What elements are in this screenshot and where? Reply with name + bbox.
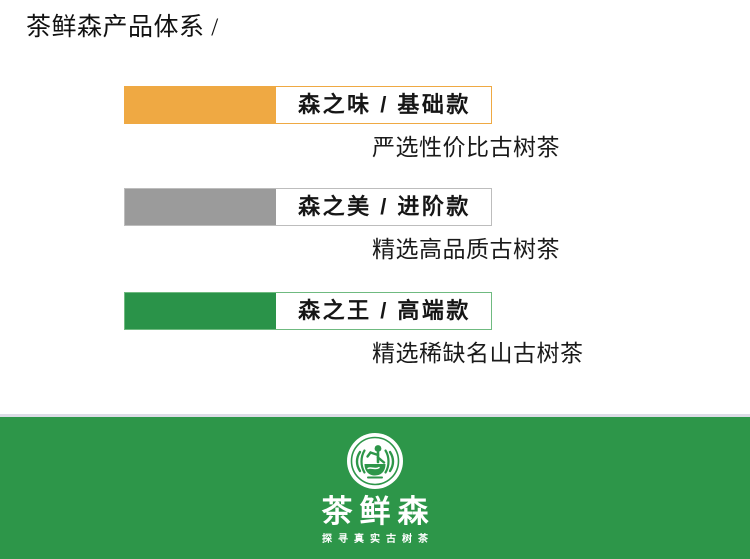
tier-swatch-green — [125, 293, 276, 329]
tier-bar: 森之味 / 基础款 — [124, 86, 492, 124]
tier-label-box: 森之王 / 高端款 — [276, 293, 491, 329]
tier-description: 精选稀缺名山古树茶 — [372, 338, 584, 368]
brand-footer-content: 茶鲜森 探寻真实古树茶 — [0, 417, 750, 559]
tier-swatch-gray — [125, 189, 276, 225]
product-tier-infographic: 茶鲜森产品体系 / 森之味 / 基础款 严选性价比古树茶 森之美 / 进阶款 精… — [0, 0, 750, 559]
tier-description: 严选性价比古树茶 — [372, 132, 560, 162]
brand-footer: 茶鲜森 探寻真实古树茶 — [0, 417, 750, 559]
tier-label: 森之美 / 进阶款 — [298, 196, 471, 218]
tier-label: 森之味 / 基础款 — [298, 94, 471, 116]
tier-bar: 森之王 / 高端款 — [124, 292, 492, 330]
tier-bar: 森之美 / 进阶款 — [124, 188, 492, 226]
brand-tagline: 探寻真实古树茶 — [316, 535, 434, 545]
tier-swatch-orange — [125, 87, 276, 123]
tier-label-box: 森之美 / 进阶款 — [276, 189, 491, 225]
tier-label: 森之王 / 高端款 — [298, 300, 471, 322]
page-title: 茶鲜森产品体系 / — [26, 12, 219, 44]
tier-description: 精选高品质古树茶 — [372, 234, 560, 264]
tea-bowl-emblem-icon — [346, 432, 404, 490]
brand-wordmark: 茶鲜森 — [315, 496, 436, 527]
tier-label-box: 森之味 / 基础款 — [276, 87, 491, 123]
